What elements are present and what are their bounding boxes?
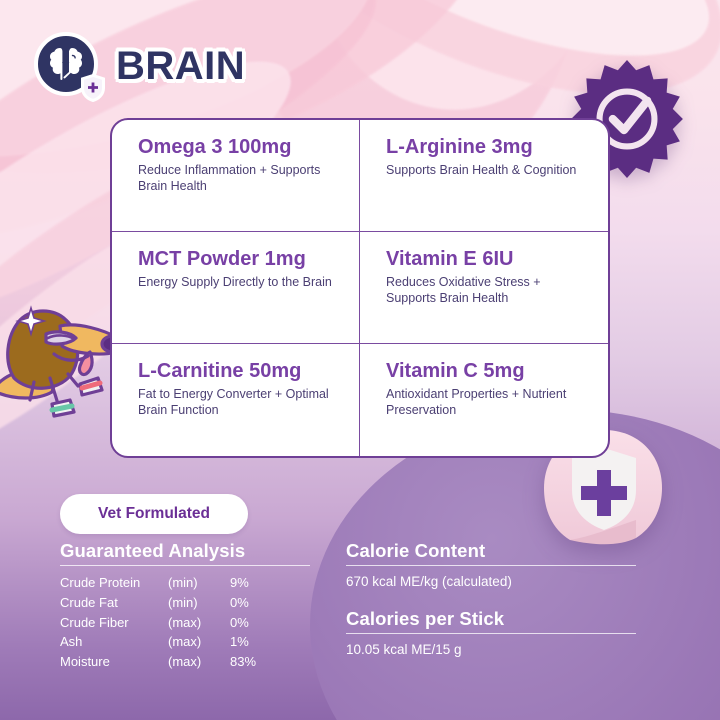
ingredient-cell: Vitamin C 5mg Antioxidant Properties + N…	[360, 344, 608, 456]
ingredient-name: L-Arginine 3mg	[386, 136, 590, 158]
vet-formulated-badge: Vet Formulated	[60, 494, 248, 534]
nutrient-qualifier: (min)	[168, 593, 230, 613]
nutrient-qualifier: (max)	[168, 652, 230, 672]
ingredient-cell: Omega 3 100mg Reduce Inflammation + Supp…	[112, 120, 360, 232]
nutrient-qualifier: (max)	[168, 613, 230, 633]
ingredient-name: Omega 3 100mg	[138, 136, 341, 158]
nutrient-value: 83%	[230, 652, 278, 672]
ingredient-benefit: Reduces Oxidative Stress + Supports Brai…	[386, 274, 590, 306]
nutrition-info: Guaranteed Analysis Crude Protein (min) …	[60, 540, 660, 676]
nutrient-name: Crude Fat	[60, 593, 168, 613]
ingredient-cell: L-Arginine 3mg Supports Brain Health & C…	[360, 120, 608, 232]
nutrient-name: Moisture	[60, 652, 168, 672]
table-row: Moisture (max) 83%	[60, 652, 310, 672]
ingredient-cell: MCT Powder 1mg Energy Supply Directly to…	[112, 232, 360, 344]
table-row: Crude Protein (min) 9%	[60, 573, 310, 593]
ingredient-benefit: Antioxidant Properties + Nutrient Preser…	[386, 386, 590, 418]
nutrient-value: 1%	[230, 632, 278, 652]
ingredient-name: MCT Powder 1mg	[138, 248, 341, 270]
ingredient-benefit: Supports Brain Health & Cognition	[386, 162, 590, 178]
calorie-content-value: 670 kcal ME/kg (calculated)	[346, 573, 636, 592]
brand-logo	[34, 32, 102, 100]
nutrient-name: Crude Fiber	[60, 613, 168, 633]
ingredient-benefit: Fat to Energy Converter + Optimal Brain …	[138, 386, 341, 418]
guaranteed-analysis-section: Guaranteed Analysis Crude Protein (min) …	[60, 540, 310, 676]
vet-formulated-label: Vet Formulated	[98, 505, 210, 523]
product-infographic: BRAIN	[0, 0, 720, 720]
calorie-content-title: Calorie Content	[346, 540, 636, 562]
divider	[346, 565, 636, 566]
calorie-section: Calorie Content 670 kcal ME/kg (calculat…	[346, 540, 636, 676]
guaranteed-analysis-title: Guaranteed Analysis	[60, 540, 310, 562]
ingredient-name: Vitamin C 5mg	[386, 360, 590, 382]
nutrient-qualifier: (min)	[168, 573, 230, 593]
nutrient-name: Crude Protein	[60, 573, 168, 593]
nutrient-name: Ash	[60, 632, 168, 652]
nutrient-value: 9%	[230, 573, 278, 593]
ingredient-benefit: Reduce Inflammation + Supports Brain Hea…	[138, 162, 341, 194]
shield-plus-icon	[80, 74, 106, 102]
ingredients-grid: Omega 3 100mg Reduce Inflammation + Supp…	[110, 118, 610, 458]
divider	[346, 633, 636, 634]
calories-per-stick-title: Calories per Stick	[346, 608, 636, 630]
nutrient-value: 0%	[230, 593, 278, 613]
calories-per-stick-value: 10.05 kcal ME/15 g	[346, 641, 636, 660]
header: BRAIN	[34, 32, 245, 100]
ingredient-benefit: Energy Supply Directly to the Brain	[138, 274, 341, 290]
table-row: Ash (max) 1%	[60, 632, 310, 652]
page-title: BRAIN	[116, 44, 245, 89]
ingredient-cell: L-Carnitine 50mg Fat to Energy Converter…	[112, 344, 360, 456]
table-row: Crude Fat (min) 0%	[60, 593, 310, 613]
table-row: Crude Fiber (max) 0%	[60, 613, 310, 633]
nutrient-qualifier: (max)	[168, 632, 230, 652]
ingredient-name: Vitamin E 6IU	[386, 248, 590, 270]
ingredient-name: L-Carnitine 50mg	[138, 360, 341, 382]
divider	[60, 565, 310, 566]
nutrient-value: 0%	[230, 613, 278, 633]
ingredient-cell: Vitamin E 6IU Reduces Oxidative Stress +…	[360, 232, 608, 344]
